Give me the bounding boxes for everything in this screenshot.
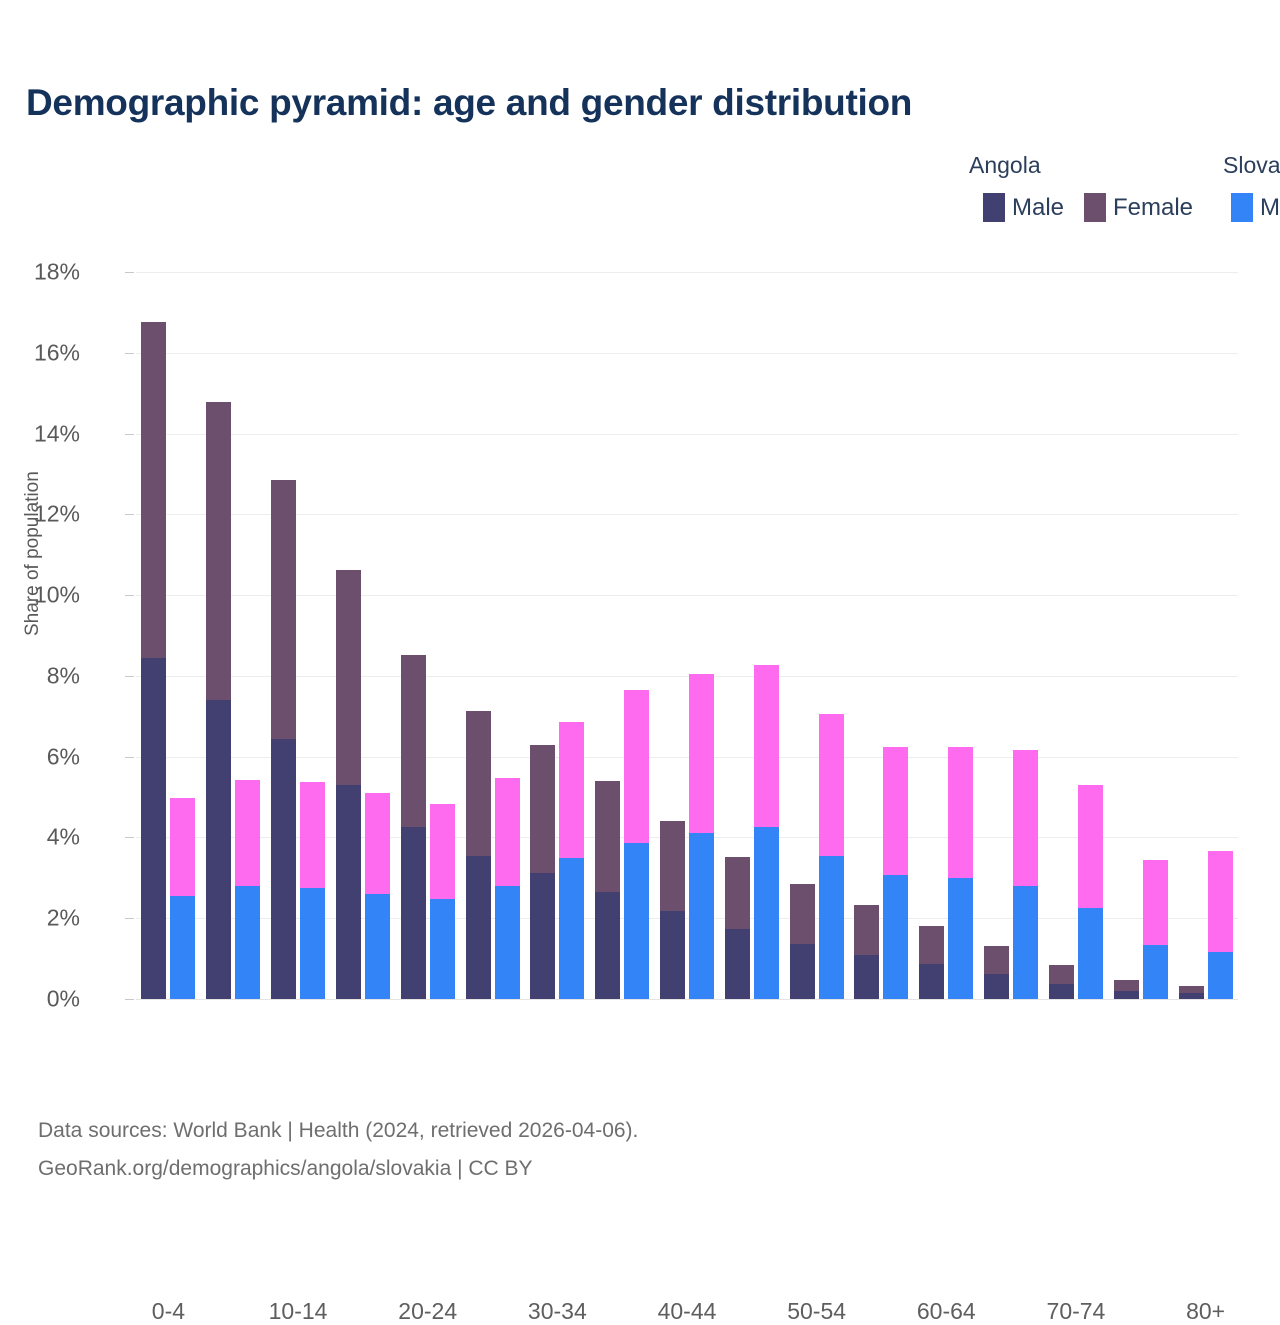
bar-group [330,272,395,999]
bar-angola[interactable] [790,884,815,999]
plot-area: 0%2%4%6%8%10%12%14%16%18%0-410-1420-2430… [136,272,1238,999]
bar-segment-female[interactable] [1078,785,1103,908]
x-axis-tick-label: 30-34 [528,1298,587,1325]
bar-segment-female[interactable] [689,674,714,833]
bar-segment-female[interactable] [754,665,779,828]
bar-segment-female[interactable] [559,722,584,858]
bar-segment-female[interactable] [819,714,844,856]
y-axis-tick-label: 14% [34,420,80,447]
bar-angola[interactable] [336,570,361,999]
bar-segment-male[interactable] [401,827,426,999]
bar-slovakia[interactable] [948,747,973,999]
bar-segment-male[interactable] [1013,886,1038,999]
y-axis-title: Share of population [22,471,44,636]
bar-segment-male[interactable] [1078,908,1103,999]
bar-slovakia[interactable] [495,778,520,999]
bar-group [460,272,525,999]
bar-segment-female[interactable] [271,480,296,739]
bar-segment-female[interactable] [725,857,750,929]
bar-angola[interactable] [1179,986,1204,999]
bar-slovakia[interactable] [365,793,390,999]
bar-angola[interactable] [466,711,491,999]
bar-segment-male[interactable] [660,911,685,999]
bar-segment-male[interactable] [754,827,779,999]
bar-group [395,272,460,999]
bar-segment-female[interactable] [1013,750,1038,887]
y-axis-tick [125,999,134,1000]
bar-segment-female[interactable] [595,781,620,892]
bar-angola[interactable] [1049,965,1074,999]
bar-slovakia[interactable] [1078,785,1103,999]
footer-line-attribution: GeoRank.org/demographics/angola/slovakia… [38,1150,638,1188]
bar-group [719,272,784,999]
bar-segment-female[interactable] [466,711,491,856]
bar-segment-male[interactable] [1179,993,1204,999]
bar-group [784,272,849,999]
bar-angola[interactable] [984,946,1009,999]
bar-slovakia[interactable] [1208,851,1233,999]
bar-angola[interactable] [725,857,750,999]
bar-group [1173,272,1238,999]
y-axis-tick [125,434,134,435]
bar-angola[interactable] [530,745,555,999]
bar-segment-female[interactable] [1049,965,1074,984]
bar-slovakia[interactable] [689,674,714,999]
bar-segment-male[interactable] [300,888,325,999]
bar-segment-male[interactable] [624,843,649,999]
bar-segment-female[interactable] [854,905,879,955]
bar-segment-male[interactable] [1208,952,1233,999]
bar-segment-male[interactable] [365,894,390,999]
bar-group [979,272,1044,999]
bar-slovakia[interactable] [1013,750,1038,999]
bar-slovakia[interactable] [883,747,908,999]
bar-slovakia[interactable] [754,665,779,999]
bar-segment-male[interactable] [1143,945,1168,999]
bar-segment-male[interactable] [854,955,879,999]
bar-segment-female[interactable] [790,884,815,943]
bar-angola[interactable] [401,655,426,999]
y-axis-tick [125,595,134,596]
footer-line-sources: Data sources: World Bank | Health (2024,… [38,1112,638,1150]
bar-angola[interactable] [206,402,231,999]
chart-canvas: Share of population 0%2%4%6%8%10%12%14%1… [0,0,1280,1280]
bar-segment-male[interactable] [595,892,620,999]
bar-segment-female[interactable] [336,570,361,784]
x-axis-tick-label: 60-64 [917,1298,976,1325]
bar-segment-male[interactable] [170,896,195,999]
bar-segment-female[interactable] [1208,851,1233,952]
bar-group [1044,272,1109,999]
bar-segment-male[interactable] [271,739,296,999]
bar-segment-male[interactable] [883,875,908,999]
bar-angola[interactable] [141,322,166,999]
gridline [136,999,1238,1000]
bar-segment-female[interactable] [624,690,649,843]
bar-slovakia[interactable] [1143,860,1168,999]
chart-footer: Data sources: World Bank | Health (2024,… [38,1112,638,1188]
bar-segment-male[interactable] [559,858,584,999]
bar-group [525,272,590,999]
x-axis-tick-label: 20-24 [398,1298,457,1325]
bar-segment-female[interactable] [919,926,944,964]
y-axis-tick [125,272,134,273]
bar-slovakia[interactable] [624,690,649,999]
bar-segment-male[interactable] [1049,984,1074,999]
bar-angola[interactable] [271,480,296,999]
y-axis-tick [125,676,134,677]
bar-slovakia[interactable] [300,782,325,999]
bar-segment-female[interactable] [170,798,195,896]
x-axis-tick-label: 50-54 [787,1298,846,1325]
x-axis-tick-label: 70-74 [1047,1298,1106,1325]
bar-group [1108,272,1173,999]
bar-segment-female[interactable] [660,821,685,911]
bar-group [655,272,720,999]
bar-segment-female[interactable] [530,745,555,873]
bar-angola[interactable] [1114,980,1139,999]
bar-slovakia[interactable] [235,780,260,999]
y-axis-tick-label: 4% [47,824,80,851]
bar-segment-female[interactable] [141,322,166,658]
y-axis-tick-label: 0% [47,986,80,1013]
y-axis-tick-label: 16% [34,339,80,366]
y-axis-tick [125,837,134,838]
bar-segment-female[interactable] [430,804,455,899]
bar-group [136,272,201,999]
bar-segment-female[interactable] [1179,986,1204,994]
y-axis-tick [125,757,134,758]
bar-group [849,272,914,999]
bar-segment-female[interactable] [235,780,260,886]
bar-segment-male[interactable] [235,886,260,999]
bar-group [914,272,979,999]
bar-angola[interactable] [919,926,944,999]
bar-slovakia[interactable] [170,798,195,999]
bar-segment-male[interactable] [206,700,231,999]
bar-segment-male[interactable] [790,944,815,999]
bar-segment-male[interactable] [141,658,166,999]
bar-segment-male[interactable] [530,873,555,999]
bar-angola[interactable] [595,781,620,999]
bar-slovakia[interactable] [430,804,455,999]
bar-segment-male[interactable] [1114,991,1139,999]
bar-segment-female[interactable] [495,778,520,885]
y-axis-tick-label: 10% [34,582,80,609]
bar-slovakia[interactable] [819,714,844,999]
bar-segment-male[interactable] [948,878,973,999]
bar-segment-male[interactable] [725,929,750,999]
x-axis-tick-label: 80+ [1186,1298,1225,1325]
bar-segment-male[interactable] [984,974,1009,999]
x-axis-tick-label: 0-4 [152,1298,185,1325]
bar-segment-male[interactable] [689,833,714,999]
y-axis-tick [125,514,134,515]
bar-segment-female[interactable] [1143,860,1168,946]
bar-group [266,272,331,999]
bar-group [590,272,655,999]
bar-segment-male[interactable] [819,856,844,999]
bar-segment-female[interactable] [300,782,325,887]
x-axis-tick-label: 40-44 [658,1298,717,1325]
bar-segment-female[interactable] [883,747,908,876]
bar-segment-male[interactable] [919,964,944,999]
bar-group [201,272,266,999]
y-axis-tick-label: 2% [47,905,80,932]
y-axis-tick [125,918,134,919]
bar-segment-female[interactable] [984,946,1009,974]
bar-segment-male[interactable] [336,785,361,999]
bar-segment-male[interactable] [495,886,520,999]
y-axis-tick-label: 12% [34,501,80,528]
bar-segment-female[interactable] [206,402,231,700]
y-axis-tick-label: 8% [47,662,80,689]
y-axis-tick-label: 18% [34,259,80,286]
y-axis-tick-label: 6% [47,743,80,770]
bar-segment-female[interactable] [401,655,426,827]
bar-segment-male[interactable] [466,856,491,999]
bar-segment-female[interactable] [948,747,973,878]
bar-angola[interactable] [854,905,879,1000]
bar-segment-male[interactable] [430,899,455,999]
bar-segment-female[interactable] [1114,980,1139,991]
bar-slovakia[interactable] [559,722,584,999]
x-axis-tick-label: 10-14 [269,1298,328,1325]
y-axis-tick [125,353,134,354]
bar-angola[interactable] [660,821,685,999]
bar-segment-female[interactable] [365,793,390,894]
